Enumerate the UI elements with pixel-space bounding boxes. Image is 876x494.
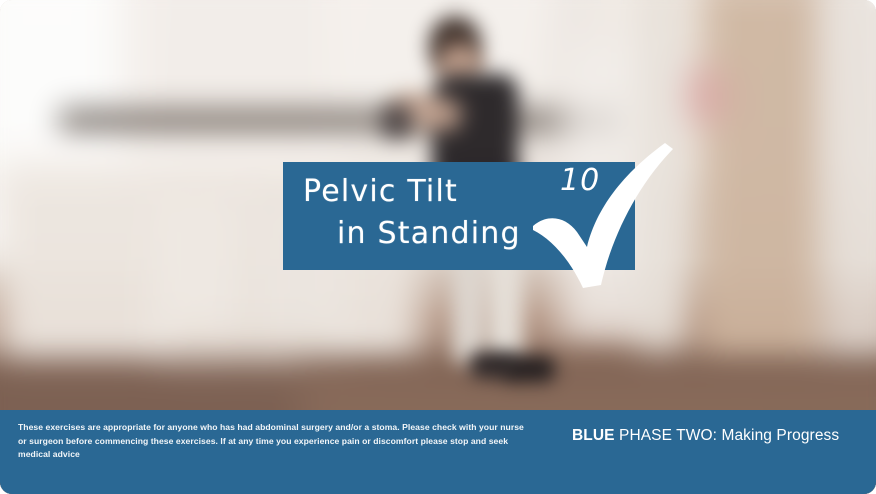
exercise-title: Pelvic Tilt in Standing (303, 171, 521, 255)
background-countertop (60, 108, 620, 134)
person-shoe-right (503, 356, 555, 382)
disclaimer-text: These exercises are appropriate for anyo… (18, 421, 530, 462)
phase-text: PHASE TWO: Making Progress (615, 427, 840, 444)
video-frame: Pelvic Tilt in Standing 10 These exercis… (0, 0, 876, 494)
background-door-frame (640, 0, 680, 380)
exercise-title-line1: Pelvic Tilt (303, 174, 458, 209)
exercise-title-line2: in Standing (303, 213, 521, 255)
rep-count: 10 (560, 163, 600, 198)
bottom-banner: These exercises are appropriate for anyo… (0, 410, 876, 494)
person-hand (381, 104, 413, 138)
background-door-right (700, 0, 830, 380)
background-wall-decoration (690, 70, 724, 122)
phase-prefix: BLUE (572, 427, 615, 444)
phase-label: BLUE PHASE TWO: Making Progress (572, 427, 839, 445)
background-wall-right (820, 0, 876, 390)
